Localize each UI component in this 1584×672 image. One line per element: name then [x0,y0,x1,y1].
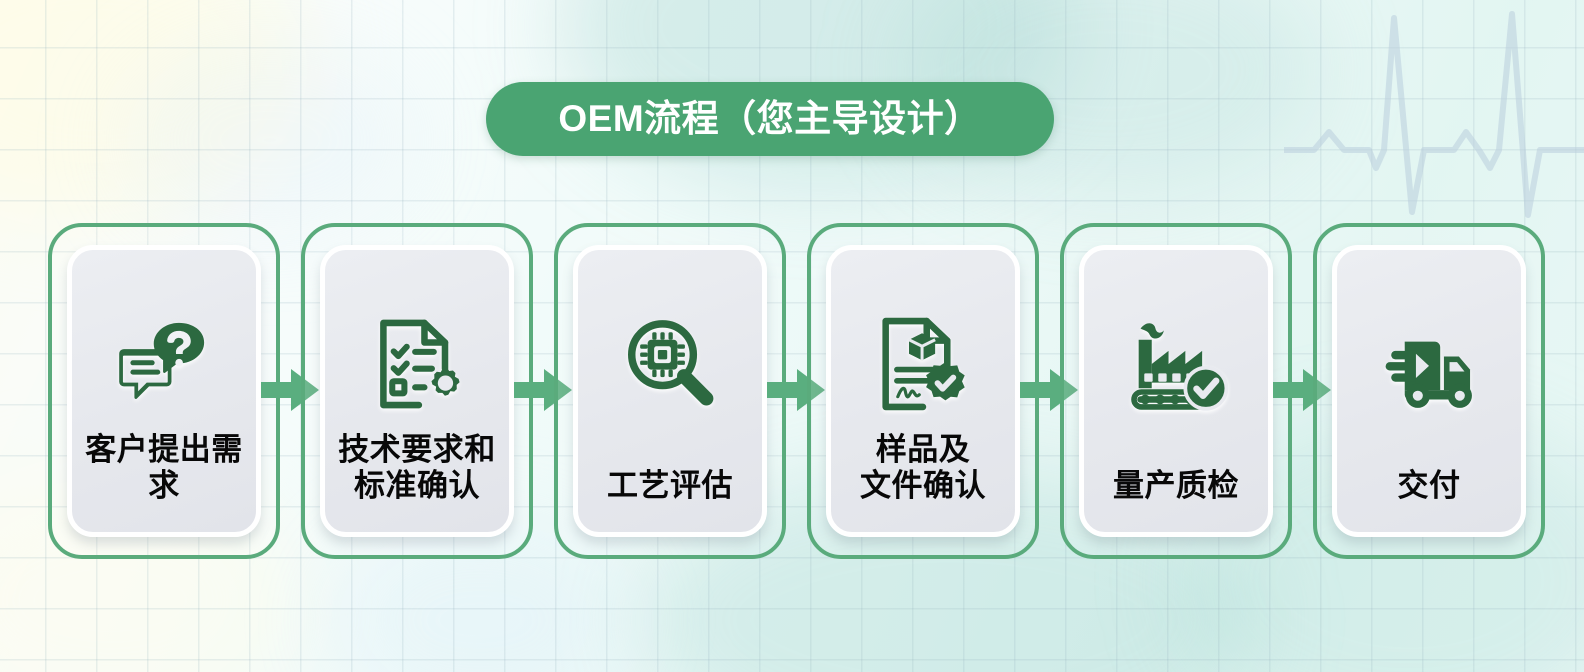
step-label: 交付 [1341,468,1517,504]
flow-step-5[interactable]: 量产质检 [1060,223,1292,559]
step-label: 客户提出需求 [76,432,252,504]
chat-question-icon [108,308,220,420]
flow-step-4[interactable]: 样品及 文件确认 [807,223,1039,559]
page-title-pill: OEM流程（您主导设计） [486,82,1054,156]
page-title: OEM流程（您主导设计） [558,100,981,137]
flow-connector-1 [280,223,301,559]
map-watermark-blob [120,40,420,240]
map-watermark-blob [0,0,310,220]
flow-step-3[interactable]: 工艺评估 [554,223,786,559]
flow-connector-5 [1292,223,1313,559]
step-card-inner: 交付 [1332,245,1526,537]
step-card-inner: 工艺评估 [573,245,767,537]
flow-step-2[interactable]: 技术要求和 标准确认 [301,223,533,559]
step-card-inner: 技术要求和 标准确认 [320,245,514,537]
document-verified-icon [867,308,979,420]
flow-step-1[interactable]: 客户提出需求 [48,223,280,559]
checklist-gear-icon [361,308,473,420]
process-flow: 客户提出需求 [48,223,1540,559]
step-label: 量产质检 [1088,468,1264,504]
flow-step-6[interactable]: 交付 [1313,223,1545,559]
chip-magnifier-icon [614,308,726,420]
factory-check-icon [1120,308,1232,420]
delivery-truck-icon [1373,308,1485,420]
step-card-inner: 样品及 文件确认 [826,245,1020,537]
heartbeat-line-icon [1284,0,1584,230]
flow-connector-2 [533,223,554,559]
infographic-canvas: OEM流程（您主导设计） [0,0,1584,672]
flow-connector-4 [1039,223,1060,559]
step-label: 工艺评估 [582,468,758,504]
step-label: 样品及 文件确认 [835,432,1011,504]
step-card-inner: 量产质检 [1079,245,1273,537]
step-label: 技术要求和 标准确认 [329,432,505,504]
flow-connector-3 [786,223,807,559]
step-card-inner: 客户提出需求 [67,245,261,537]
